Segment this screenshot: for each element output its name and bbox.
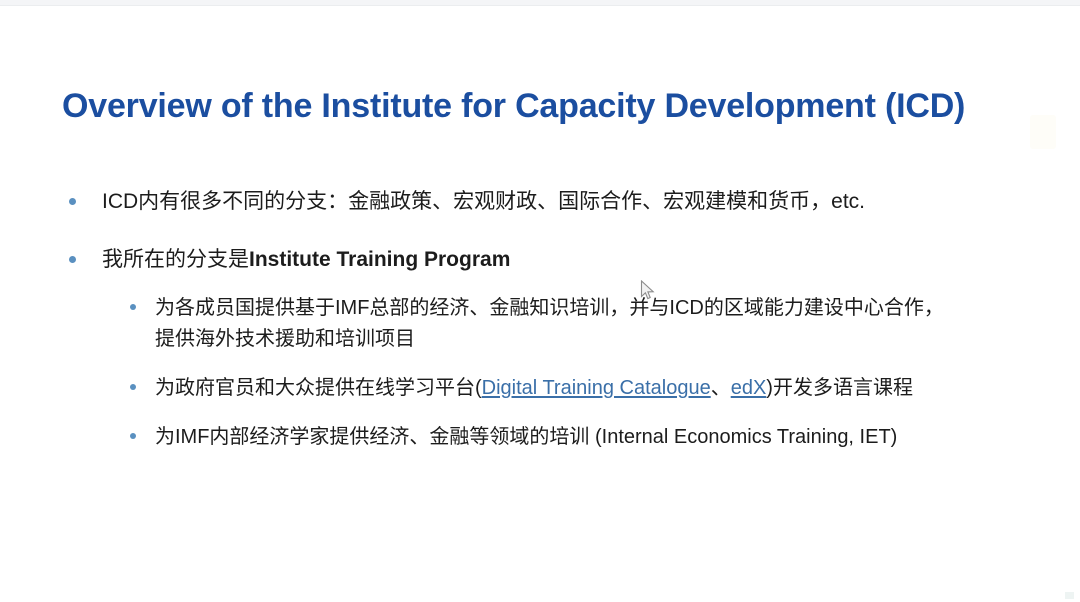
sub-bullet-2-separator: 、 <box>711 377 731 399</box>
list-item: 为政府官员和大众提供在线学习平台(Digital Training Catalo… <box>122 373 1062 404</box>
list-item: 我所在的分支是Institute Training Program 为各成员国提… <box>62 244 1062 454</box>
page-title: Overview of the Institute for Capacity D… <box>62 87 1062 126</box>
presentation-slide: Overview of the Institute for Capacity D… <box>0 0 1080 602</box>
link-edx[interactable]: edX <box>731 377 767 399</box>
bullet-dot-icon <box>130 433 136 439</box>
link-digital-training-catalogue[interactable]: Digital Training Catalogue <box>482 377 711 399</box>
bullet-dot-icon <box>69 198 76 205</box>
sub-bullet-2-suffix: )开发多语言课程 <box>766 377 913 399</box>
sub-bullet-1-line2: 提供海外技术援助和培训项目 <box>155 328 415 350</box>
background-artifact-bottom-right <box>1065 592 1074 599</box>
bullet-dot-icon <box>130 304 136 310</box>
slide-body: ICD内有很多不同的分支：金融政策、宏观财政、国际合作、宏观建模和货币，etc.… <box>62 186 1062 479</box>
bullet-2-text-bold: Institute Training Program <box>249 248 510 271</box>
list-item: 为IMF内部经济学家提供经济、金融等领域的培训 (Internal Econom… <box>122 422 1062 453</box>
sub-bullet-3-text: 为IMF内部经济学家提供经济、金融等领域的培训 (Internal Econom… <box>155 426 897 448</box>
top-edge-line <box>0 5 1080 6</box>
sub-bullet-1-line1: 为各成员国提供基于IMF总部的经济、金融知识培训，并与ICD的区域能力建设中心合… <box>155 297 944 319</box>
sub-bullet-list: 为各成员国提供基于IMF总部的经济、金融知识培训，并与ICD的区域能力建设中心合… <box>122 293 1062 453</box>
list-item: 为各成员国提供基于IMF总部的经济、金融知识培训，并与ICD的区域能力建设中心合… <box>122 293 1062 355</box>
bullet-dot-icon <box>130 384 136 390</box>
list-item: ICD内有很多不同的分支：金融政策、宏观财政、国际合作、宏观建模和货币，etc. <box>62 186 1062 218</box>
sub-bullet-2-prefix: 为政府官员和大众提供在线学习平台( <box>155 377 482 399</box>
bullet-dot-icon <box>69 256 76 263</box>
bullet-2-text-prefix: 我所在的分支是 <box>102 248 249 271</box>
bullet-1-text: ICD内有很多不同的分支：金融政策、宏观财政、国际合作、宏观建模和货币，etc. <box>102 190 865 213</box>
